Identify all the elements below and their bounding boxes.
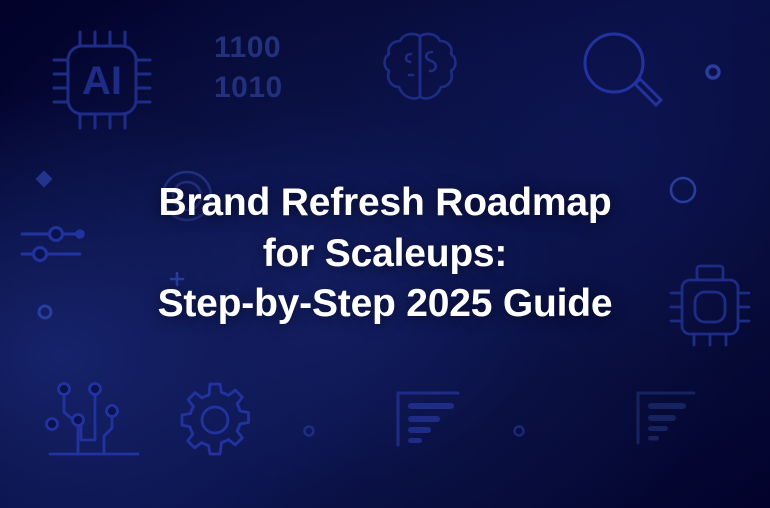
- hero-banner: AI 1100 1010: [0, 0, 770, 508]
- hero-title-container: Brand Refresh Roadmap for Scaleups: Step…: [0, 0, 770, 508]
- page-title: Brand Refresh Roadmap for Scaleups: Step…: [118, 178, 653, 330]
